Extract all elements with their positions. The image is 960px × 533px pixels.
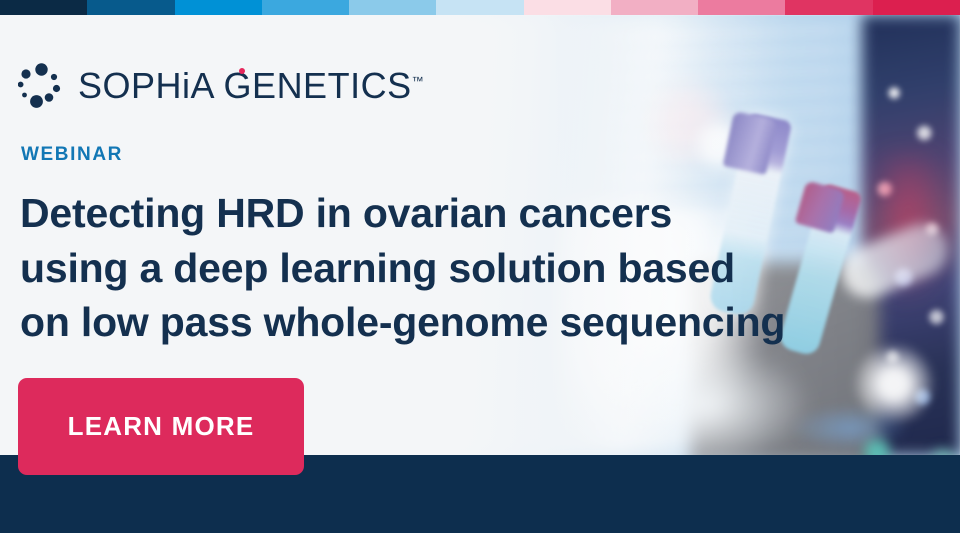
- stripe-segment: [611, 0, 698, 15]
- eyebrow-label: WEBINAR: [21, 145, 960, 164]
- logo-wordmark: SOPHiA GENETICS™: [78, 68, 424, 104]
- learn-more-button[interactable]: LEARN MORE: [18, 378, 304, 475]
- sophia-genetics-logo[interactable]: SOPHiA GENETICS™: [18, 60, 960, 112]
- logo-i-accent-dot: [239, 68, 245, 74]
- stripe-segment: [262, 0, 349, 15]
- headline-line-3: on low pass whole-genome sequencing: [20, 295, 960, 350]
- sophia-dot-circle-mark: [18, 63, 64, 109]
- webinar-promo-banner: SOPHiA GENETICS™ WEBINAR Detecting HRD i…: [0, 0, 960, 533]
- stripe-segment: [349, 0, 436, 15]
- brand-color-stripe: [0, 0, 960, 15]
- stripe-segment: [87, 0, 174, 15]
- stripe-segment: [175, 0, 262, 15]
- trademark-symbol: ™: [412, 74, 424, 88]
- stripe-segment: [873, 0, 960, 15]
- page-title: Detecting HRD in ovarian cancers using a…: [20, 186, 960, 350]
- headline-line-1: Detecting HRD in ovarian cancers: [20, 186, 960, 241]
- stripe-segment: [436, 0, 523, 15]
- headline-line-2: using a deep learning solution based: [20, 241, 960, 296]
- stripe-segment: [0, 0, 87, 15]
- stripe-segment: [524, 0, 611, 15]
- stripe-segment: [698, 0, 785, 15]
- stripe-segment: [785, 0, 872, 15]
